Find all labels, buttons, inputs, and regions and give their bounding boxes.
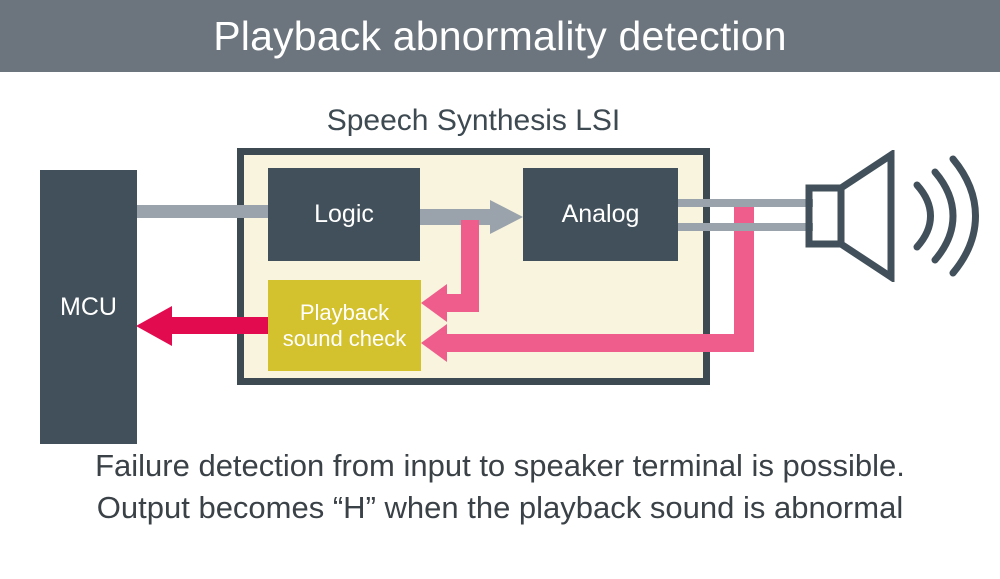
feedback-arrowhead-lower bbox=[421, 324, 447, 362]
block-diagram: Speech Synthesis LSI MCU Logic Ana bbox=[0, 72, 1000, 440]
output-arrow-head bbox=[136, 306, 172, 346]
block-mcu[interactable]: MCU bbox=[40, 170, 137, 444]
lsi-group-label: Speech Synthesis LSI bbox=[237, 104, 710, 138]
caption-line-2: Output becomes “H” when the playback sou… bbox=[0, 487, 1000, 529]
caption: Failure detection from input to speaker … bbox=[0, 445, 1000, 529]
diagram-page: Playback abnormality detection Speech Sy… bbox=[0, 0, 1000, 579]
wire-analog-to-speaker-negative bbox=[678, 223, 813, 231]
block-logic-label: Logic bbox=[314, 200, 374, 229]
caption-line-1: Failure detection from input to speaker … bbox=[0, 445, 1000, 487]
page-title: Playback abnormality detection bbox=[0, 0, 1000, 72]
block-playback-label-line1: Playback bbox=[300, 300, 389, 325]
feedback-line-analog-input bbox=[461, 220, 479, 304]
output-arrow-shaft bbox=[170, 317, 270, 334]
block-mcu-label: MCU bbox=[60, 293, 117, 322]
feedback-line-speaker-riser bbox=[734, 199, 754, 352]
feedback-line-speaker-return bbox=[437, 334, 752, 352]
block-analog-label: Analog bbox=[562, 200, 640, 229]
speaker-icon bbox=[805, 150, 995, 282]
block-playback-label-line2: sound check bbox=[283, 326, 407, 351]
block-playback-sound-check[interactable]: Playback sound check bbox=[268, 280, 421, 371]
wire-analog-to-speaker-positive bbox=[678, 199, 813, 207]
block-analog[interactable]: Analog bbox=[523, 168, 678, 261]
header-bar: Playback abnormality detection bbox=[0, 0, 1000, 72]
wire-mcu-to-logic bbox=[137, 205, 270, 218]
feedback-arrowhead-upper bbox=[421, 284, 447, 322]
block-logic[interactable]: Logic bbox=[268, 168, 420, 261]
